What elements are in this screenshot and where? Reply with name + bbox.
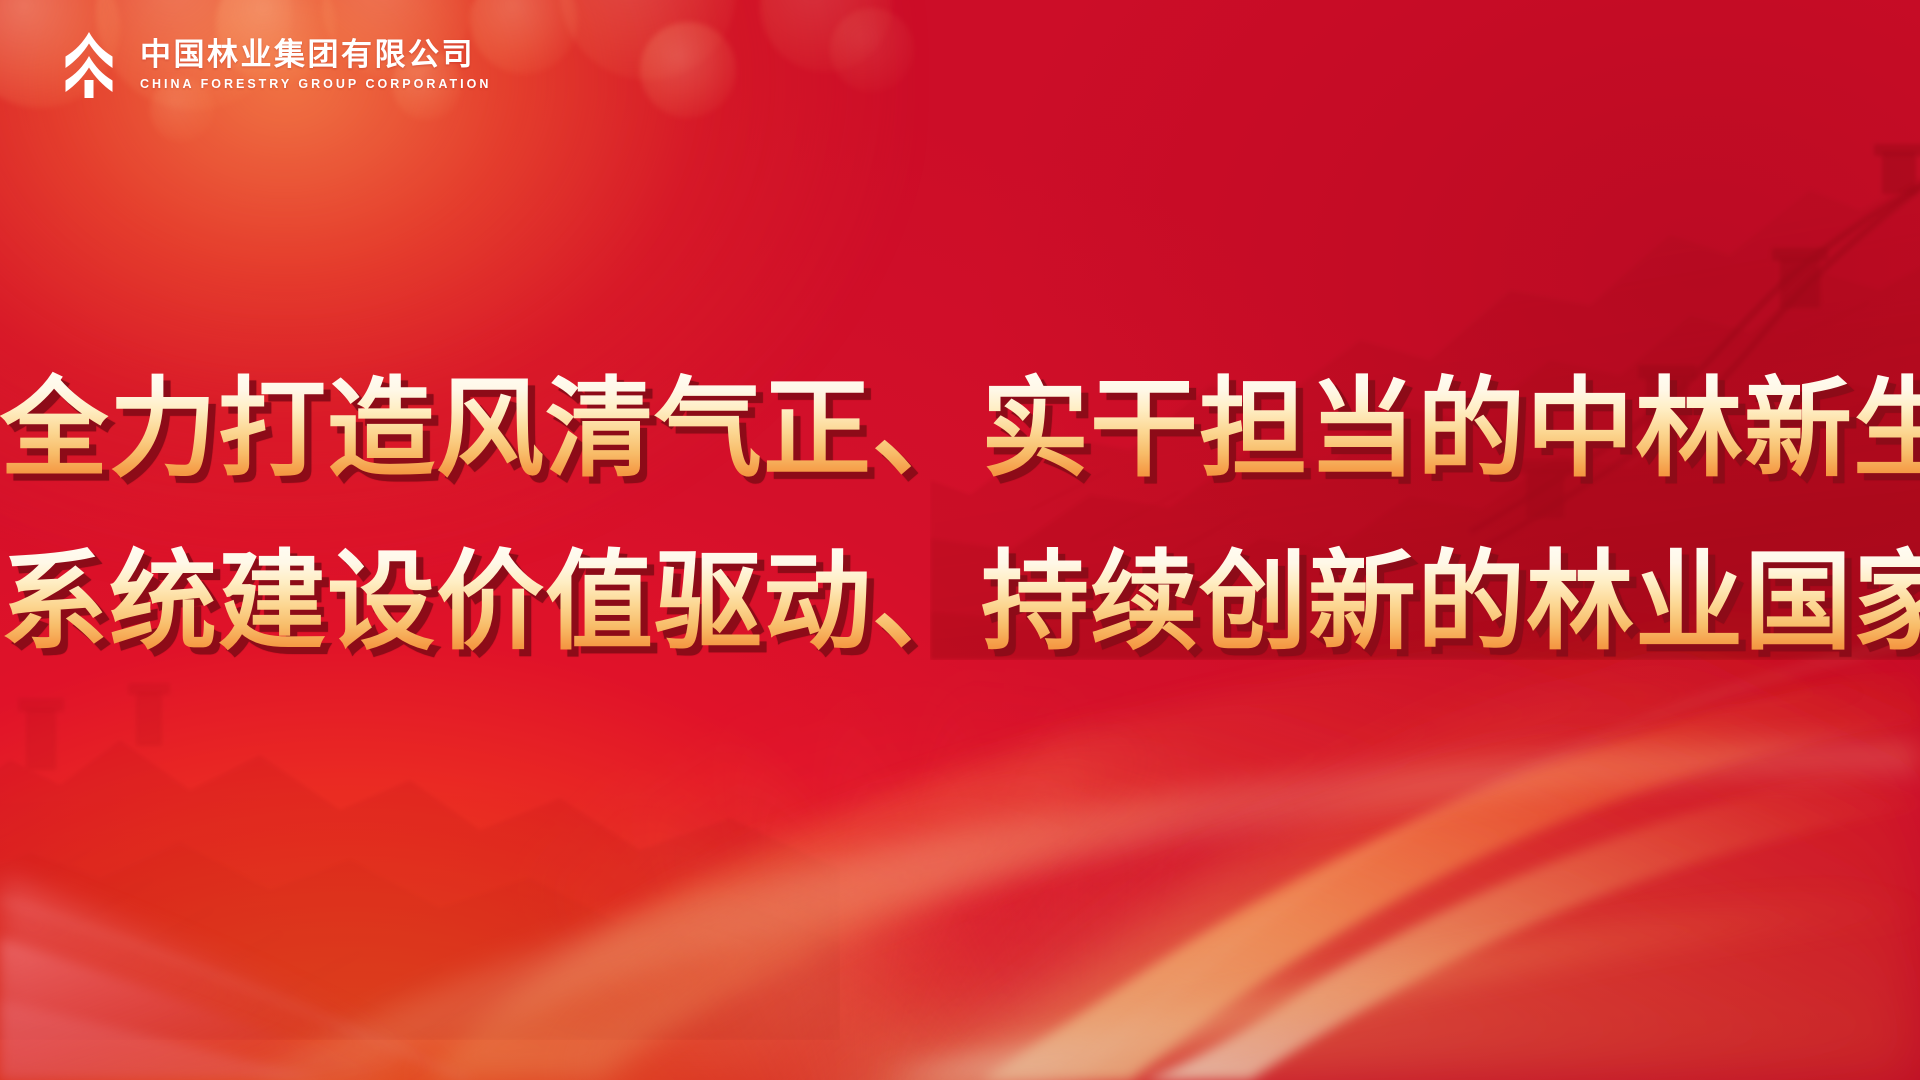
pine-tree-chevron-mark-icon xyxy=(52,30,126,98)
logo-company-name-en: CHINA FORESTRY GROUP CORPORATION xyxy=(140,78,491,92)
great-wall-watermark-icon xyxy=(930,40,1920,660)
logo-company-name-cn: 中国林业集团有限公司 xyxy=(140,38,491,71)
company-logo[interactable]: 中国林业集团有限公司 CHINA FORESTRY GROUP CORPORAT… xyxy=(52,30,491,98)
slogan-banner: 中国林业集团有限公司 CHINA FORESTRY GROUP CORPORAT… xyxy=(0,0,1920,1080)
vignette-bottom xyxy=(0,780,1920,1080)
logo-wordmark: 中国林业集团有限公司 CHINA FORESTRY GROUP CORPORAT… xyxy=(140,38,491,91)
